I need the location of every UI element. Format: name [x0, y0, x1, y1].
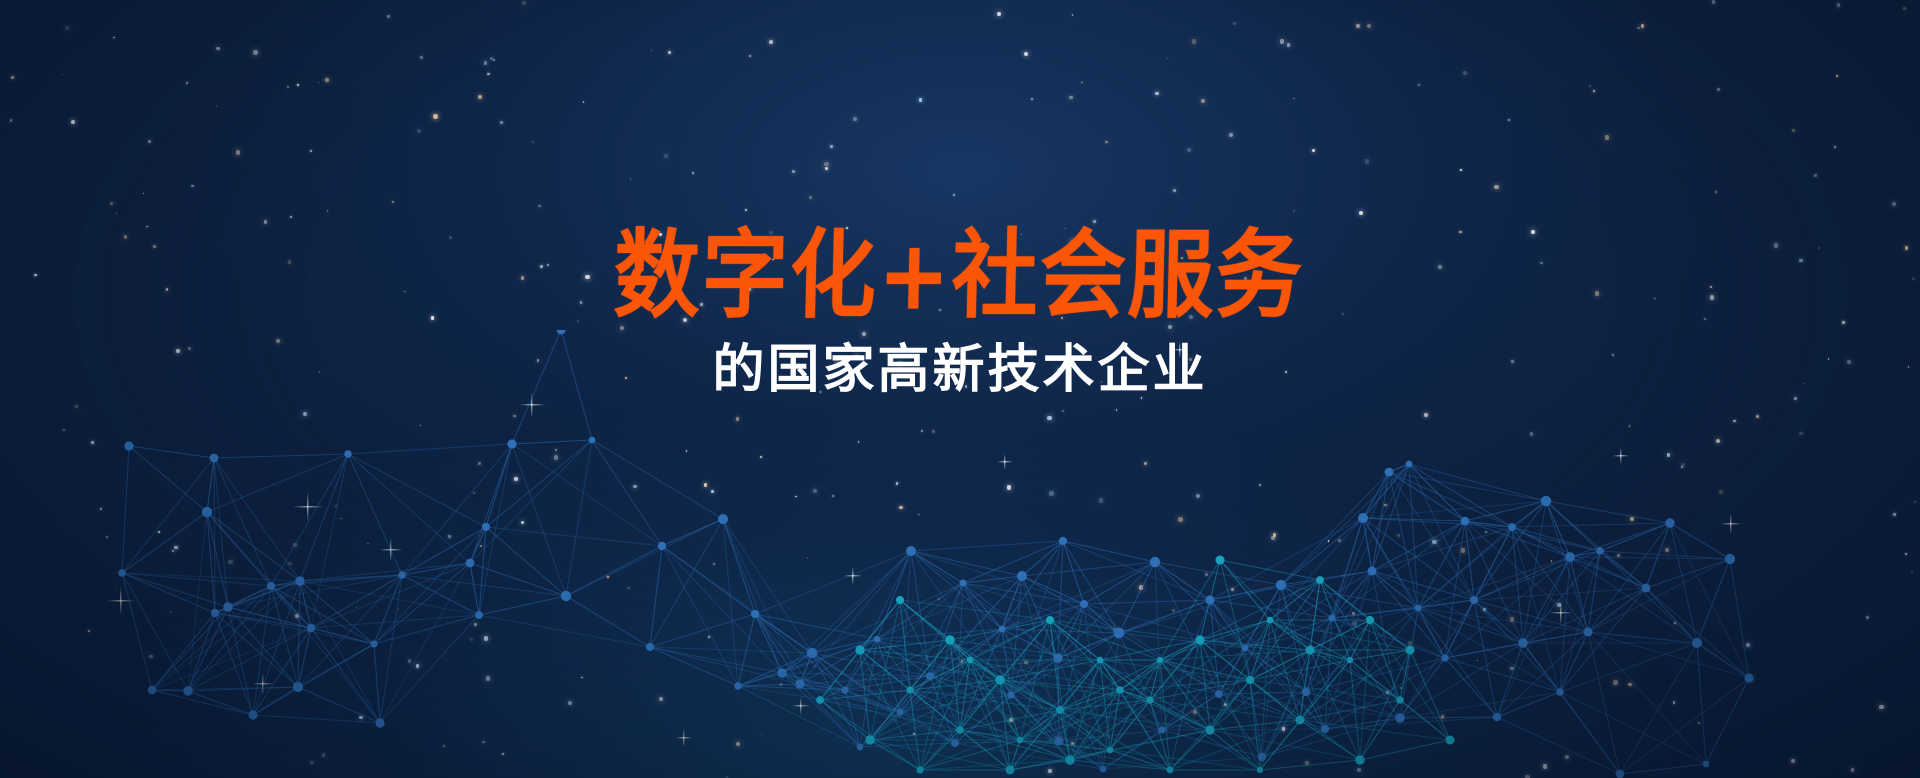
network-node	[307, 624, 315, 632]
network-node	[1703, 761, 1710, 768]
star	[1641, 24, 1645, 28]
star	[1818, 247, 1820, 249]
star	[664, 154, 668, 158]
network-node	[1396, 696, 1403, 703]
star	[1531, 230, 1535, 234]
star	[327, 210, 329, 212]
star	[297, 84, 299, 86]
star	[431, 316, 435, 320]
network-node	[906, 686, 913, 693]
network-node	[1470, 596, 1478, 604]
star	[1356, 24, 1360, 28]
network-node	[1059, 537, 1067, 545]
star	[692, 172, 694, 174]
star	[1593, 90, 1596, 93]
network-node	[816, 696, 824, 704]
network-node	[1725, 554, 1735, 564]
network-node	[183, 686, 193, 696]
network-node	[1306, 646, 1315, 655]
star	[1024, 52, 1028, 56]
star	[1837, 3, 1840, 6]
network-node	[1258, 753, 1266, 761]
network-node	[1508, 523, 1516, 531]
network-node	[223, 602, 232, 611]
network-node	[466, 559, 475, 568]
star	[325, 78, 328, 81]
network-node	[210, 454, 219, 463]
network-node	[1276, 580, 1286, 590]
network-node	[1215, 690, 1223, 698]
star	[745, 209, 747, 211]
star	[997, 12, 1001, 16]
star	[919, 98, 922, 101]
network-node	[865, 735, 874, 744]
star	[1715, 191, 1717, 193]
network-node	[1046, 616, 1054, 624]
network-node	[1056, 706, 1064, 714]
network-node	[1368, 567, 1377, 576]
network-node	[1616, 770, 1625, 778]
star	[1312, 149, 1315, 152]
network-node	[507, 439, 516, 448]
network-node	[1415, 605, 1422, 612]
network-node	[1366, 616, 1374, 624]
network-node	[916, 766, 923, 773]
star	[1342, 313, 1344, 315]
network-node	[1080, 600, 1088, 608]
star	[1605, 135, 1610, 140]
star	[1069, 96, 1072, 99]
star	[404, 291, 406, 293]
star	[1792, 129, 1795, 132]
star	[500, 121, 503, 124]
star	[1712, 0, 1715, 3]
star	[1799, 259, 1803, 263]
network-node	[795, 679, 804, 688]
star	[264, 220, 268, 224]
star	[65, 26, 69, 30]
network-node	[751, 610, 759, 618]
network-node	[1584, 628, 1593, 637]
star	[153, 245, 156, 248]
star	[1367, 24, 1371, 28]
network-node	[1017, 571, 1027, 581]
star	[1704, 318, 1706, 320]
star	[191, 185, 194, 188]
star	[1105, 141, 1108, 144]
star	[1365, 159, 1369, 163]
network-node	[967, 657, 973, 663]
network-node	[1146, 696, 1153, 703]
star	[538, 205, 540, 207]
star	[1173, 189, 1176, 192]
star	[1293, 210, 1295, 212]
star	[116, 213, 118, 215]
star	[449, 236, 452, 239]
star	[1912, 278, 1915, 281]
star	[1508, 119, 1510, 121]
network-node	[1107, 747, 1114, 754]
network-node	[1329, 615, 1336, 622]
star	[10, 119, 13, 122]
star	[540, 265, 543, 268]
network-node	[1406, 646, 1415, 655]
star	[1463, 71, 1467, 75]
network-node	[1692, 638, 1702, 648]
star	[809, 196, 812, 199]
network-node	[1642, 584, 1651, 593]
network-node	[1242, 645, 1249, 652]
star	[532, 141, 534, 143]
star	[1460, 169, 1462, 171]
star	[769, 40, 773, 44]
star	[166, 288, 169, 291]
star	[146, 226, 148, 228]
star	[1834, 146, 1836, 148]
star	[1293, 98, 1294, 99]
network-node	[344, 450, 351, 457]
network-node	[1541, 496, 1551, 506]
star	[1589, 85, 1591, 87]
star	[1287, 43, 1290, 46]
star	[1774, 243, 1778, 247]
star	[387, 15, 390, 18]
network-node	[926, 672, 934, 680]
star	[1192, 39, 1196, 43]
star	[668, 51, 671, 54]
page-subtitle: 的国家高新技术企业	[712, 344, 1207, 396]
star	[577, 320, 579, 322]
page-title: 数字化+社会服务	[613, 228, 1305, 324]
network-node	[1493, 713, 1502, 722]
network-node	[1157, 657, 1163, 663]
network-node	[248, 710, 257, 719]
star	[1155, 92, 1159, 96]
star	[186, 82, 189, 85]
star	[1905, 246, 1909, 250]
network-node	[951, 739, 959, 747]
star	[1201, 99, 1205, 103]
star	[1892, 202, 1896, 206]
star	[1842, 321, 1844, 323]
star	[1418, 84, 1420, 86]
star	[493, 59, 495, 61]
network-node	[1347, 657, 1353, 663]
network-node	[1267, 617, 1274, 624]
network-node	[589, 437, 596, 444]
star	[792, 170, 795, 173]
network-node	[211, 609, 219, 617]
network-node	[1053, 653, 1062, 662]
network-node	[1358, 513, 1368, 523]
star	[1187, 148, 1192, 153]
star	[310, 150, 312, 152]
network-node	[1097, 657, 1103, 663]
network-node	[658, 542, 666, 550]
network-node	[1195, 635, 1204, 644]
star	[580, 301, 583, 304]
network-node	[1302, 688, 1311, 697]
star	[288, 260, 292, 264]
star	[1229, 133, 1233, 137]
network-node	[1007, 691, 1014, 698]
star	[392, 201, 394, 203]
network-node	[1158, 726, 1165, 733]
star	[1903, 7, 1906, 10]
network-node	[1257, 767, 1263, 773]
star	[236, 150, 240, 154]
network-node	[1745, 674, 1754, 683]
star	[290, 216, 292, 218]
network-node	[960, 580, 967, 587]
network-node	[734, 682, 742, 690]
network-node	[375, 718, 384, 727]
network-node	[807, 648, 818, 659]
star	[1836, 75, 1838, 77]
network-node	[295, 576, 304, 585]
network-node	[267, 582, 275, 590]
star	[1540, 262, 1543, 265]
network-node	[1355, 755, 1364, 764]
network-node	[1205, 725, 1214, 734]
star	[11, 76, 14, 79]
network-node	[857, 744, 864, 751]
network-node	[646, 643, 654, 651]
star	[216, 105, 218, 107]
network-node	[874, 636, 881, 643]
network-node	[1006, 766, 1015, 775]
network-node	[1100, 766, 1107, 773]
network-node	[945, 635, 954, 644]
star	[124, 235, 128, 239]
network-node	[1556, 688, 1563, 695]
star	[216, 47, 220, 51]
network-node	[777, 668, 786, 677]
network-node	[841, 686, 848, 693]
star	[853, 117, 857, 121]
network-node	[1518, 638, 1528, 648]
star	[521, 276, 525, 280]
network-node	[1246, 676, 1254, 684]
star	[417, 129, 422, 134]
network-node	[293, 682, 303, 692]
star	[522, 1, 526, 5]
star	[148, 140, 151, 143]
star	[1459, 231, 1462, 234]
star	[487, 73, 489, 75]
network-node	[370, 640, 377, 647]
network-node	[482, 523, 490, 531]
network-node	[897, 709, 904, 716]
star	[1167, 58, 1169, 60]
network-node	[561, 591, 571, 601]
star	[1031, 98, 1033, 100]
network-node	[1116, 686, 1124, 694]
network-node	[1565, 552, 1575, 562]
star	[830, 145, 833, 148]
network-node	[1205, 595, 1214, 604]
star	[1072, 14, 1074, 16]
star	[1717, 88, 1720, 91]
star	[62, 74, 63, 75]
star	[1280, 39, 1285, 44]
star	[34, 274, 37, 277]
star	[287, 86, 290, 89]
star	[651, 50, 653, 52]
star	[490, 57, 493, 60]
network-node	[855, 645, 864, 654]
network-node	[1065, 755, 1074, 764]
network-node	[995, 675, 1004, 684]
network-node	[1596, 547, 1604, 555]
star	[110, 202, 114, 206]
network-node	[1055, 737, 1064, 746]
star	[583, 101, 585, 103]
star	[749, 55, 751, 57]
star	[1654, 298, 1656, 300]
star	[1710, 295, 1714, 299]
network-node	[1446, 736, 1455, 745]
star	[318, 82, 320, 84]
network-node	[1665, 518, 1674, 527]
network-node	[1385, 468, 1394, 477]
network-node	[1150, 557, 1160, 567]
star	[1233, 22, 1236, 25]
network-node	[1321, 725, 1329, 733]
star	[253, 50, 258, 55]
network-node	[906, 546, 916, 556]
star	[484, 61, 488, 65]
star	[825, 167, 828, 170]
star	[1814, 174, 1817, 177]
network-node	[475, 611, 483, 619]
star	[1637, 27, 1640, 30]
star	[478, 95, 482, 99]
star	[1494, 185, 1498, 189]
star	[1359, 211, 1363, 215]
network-node	[956, 726, 963, 733]
star	[630, 178, 631, 179]
network-node	[148, 686, 156, 694]
star	[1081, 82, 1083, 84]
network-node	[557, 330, 566, 335]
star	[585, 275, 589, 279]
network-node	[398, 571, 406, 579]
network-node	[718, 514, 728, 524]
network-node	[1296, 716, 1305, 725]
network-node	[202, 507, 212, 517]
network-node	[1406, 461, 1413, 468]
network-node	[1017, 737, 1023, 743]
star	[824, 162, 828, 166]
banner-hero: 数字化+社会服务 的国家高新技术企业	[0, 0, 1920, 778]
network-node	[999, 626, 1006, 633]
star	[433, 114, 437, 118]
network-node	[1461, 517, 1470, 526]
star	[547, 264, 549, 266]
network-node	[1441, 654, 1448, 661]
network-node	[118, 569, 126, 577]
network-node	[124, 441, 133, 450]
network-node	[1316, 576, 1324, 584]
star	[1595, 291, 1599, 295]
star	[71, 120, 75, 124]
star	[1438, 265, 1442, 269]
network-node	[1114, 628, 1125, 639]
star	[420, 56, 423, 59]
star	[143, 193, 144, 194]
network-node	[1395, 713, 1405, 723]
network-node	[1216, 556, 1225, 565]
network-node	[896, 596, 904, 604]
star	[113, 37, 115, 39]
star	[1710, 286, 1713, 289]
network-node	[1167, 767, 1174, 774]
star	[953, 194, 955, 196]
